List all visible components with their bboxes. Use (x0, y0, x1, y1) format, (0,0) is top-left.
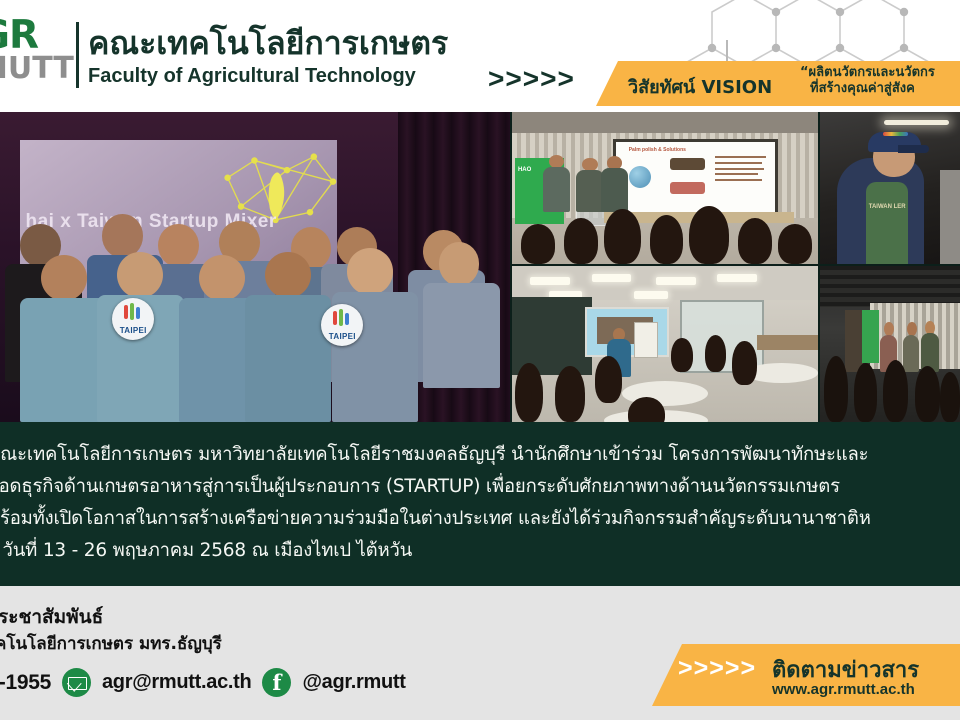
ceiling-lamp (592, 274, 632, 282)
description-line-3: พร้อมทั้งเปิดโอกาสในการสร้างเครือข่ายควา… (0, 504, 871, 533)
poster-root: GR MUTT คณะเทคโนโลยีการเกษตร Faculty of … (0, 0, 960, 720)
audience-head (604, 209, 641, 264)
rmutt-logo[interactable]: GR MUTT (0, 18, 74, 96)
footer-title: ประชาสัมพันธ์ (0, 602, 103, 632)
audience-head (940, 372, 960, 422)
audience-head (915, 366, 940, 422)
person-body (543, 167, 571, 213)
faculty-name-thai: คณะเทคโนโลยีการเกษตร (88, 25, 448, 61)
photo-classroom[interactable] (512, 266, 818, 422)
vision-quote-line-1: “ผลิตนวัตกรและนวัตกร (800, 65, 960, 81)
taipei-badge: TAIPEI (321, 304, 363, 346)
person-body (601, 168, 629, 212)
audience-head (555, 366, 586, 422)
envelope-icon (62, 668, 91, 697)
ceiling-lamp (717, 274, 757, 282)
person-head (41, 255, 87, 302)
photo-industrial-hall[interactable] (820, 266, 960, 422)
photo2-slide: Palm polish & Solutions (613, 139, 778, 215)
description-line-4: ง วันที่ 13 - 26 พฤษภาคม 2568 ณ เมืองไทเ… (0, 536, 412, 565)
ceiling-lamp (656, 277, 696, 285)
photo3-cap-brim (898, 145, 929, 153)
photo3-tshirt: TAIWAN LER (866, 182, 908, 264)
email-address[interactable]: agr@rmutt.ac.th (102, 671, 251, 694)
follow-chevron-group: > > > > > (678, 656, 755, 681)
chevron-right-icon: > (740, 656, 755, 681)
facebook-icon (262, 668, 291, 697)
photo-collage: hai x Taiwan Startup Mixer 025, (0, 112, 960, 422)
photo-man-portrait[interactable]: TAIWAN LER (820, 112, 960, 264)
hex-stem-decoration (726, 40, 728, 64)
chevron-right-icon: > (505, 66, 521, 92)
photo-group-stage[interactable]: hai x Taiwan Startup Mixer 025, (0, 112, 510, 422)
chevron-right-icon: > (694, 656, 709, 681)
chevron-right-icon: > (678, 656, 693, 681)
audience-head (564, 218, 598, 264)
photo3-cap-stripe (883, 132, 908, 136)
person-head (347, 248, 393, 295)
chevron-right-icon: > (540, 66, 556, 92)
logo-rmutt-text: MUTT (0, 54, 74, 84)
phone-number[interactable]: 92-1955 (0, 671, 51, 695)
chevron-right-icon: > (709, 656, 724, 681)
audience-head (738, 218, 772, 264)
ceiling-lamp (634, 291, 668, 299)
person-head (158, 224, 199, 267)
photo5-board (845, 310, 863, 372)
audience-head (824, 356, 848, 422)
taipei-badge-label: TAIPEI (321, 332, 363, 341)
photo2-banner-label: HAO (518, 167, 531, 173)
chevron-right-icon: > (725, 656, 740, 681)
footer-subtitle: เทคโนโลยีการเกษตร มทร.ธัญบุรี (0, 630, 222, 657)
person-head (117, 252, 163, 299)
person-body (245, 295, 332, 422)
footer-contact-row: 92-1955 agr@rmutt.ac.th @agr.rmutt (0, 668, 406, 697)
audience-head (689, 206, 729, 264)
person-head (199, 255, 245, 302)
audience-head (854, 363, 878, 422)
audience-head (778, 224, 812, 264)
photo5-green-banner (862, 310, 879, 363)
person-body (576, 170, 604, 213)
photo2-slide-title: Palm polish & Solutions (629, 147, 686, 153)
vision-quote: “ผลิตนวัตกรและนวัตกร ที่สร้างคุณค่าสู่สั… (800, 65, 960, 97)
person-head (265, 252, 311, 299)
header: GR MUTT คณะเทคโนโลยีการเกษตร Faculty of … (0, 0, 960, 112)
chevron-right-icon: > (523, 66, 539, 92)
taipei-badge: TAIPEI (112, 298, 154, 340)
logo-agr-text: GR (0, 18, 74, 54)
audience-head (595, 356, 623, 403)
vision-quote-line-2: ที่สร้างคุณค่าสู่สังค (800, 81, 960, 97)
photo5-ceiling (820, 266, 960, 307)
audience-head (883, 360, 908, 422)
chevron-right-icon: > (488, 66, 504, 92)
vision-label: วิสัยทัศน์ VISION (628, 72, 772, 101)
header-chevron-group: > > > > > (488, 66, 574, 92)
description-line-2: ยอดธุรกิจด้านเกษตรอาหารสู่การเป็นผู้ประก… (0, 472, 840, 501)
logo-divider (76, 22, 79, 88)
chevron-right-icon: > (557, 66, 573, 92)
taipei-badge-label: TAIPEI (112, 326, 154, 335)
audience-head (650, 215, 684, 264)
globe-icon (629, 166, 651, 188)
faculty-name-english: Faculty of Agricultural Technology (88, 64, 416, 88)
person-head (439, 242, 480, 285)
photo-presentation-room[interactable]: Palm polish & Solutions HAO T T A (512, 112, 818, 264)
audience-head (705, 335, 726, 372)
person-body (423, 283, 500, 388)
ceiling-lamp (530, 277, 570, 285)
facebook-handle[interactable]: @agr.rmutt (302, 671, 405, 694)
follow-url[interactable]: www.agr.rmutt.ac.th (772, 681, 915, 698)
photo3-shirt-text: TAIWAN LER (866, 203, 908, 211)
audience-head (732, 341, 756, 385)
photo4-counter (757, 335, 818, 351)
person-body (20, 298, 107, 422)
description-line-1: คณะเทคโนโลยีการเกษตร มหาวิทยาลัยเทคโนโลย… (0, 440, 868, 469)
audience-head (671, 338, 692, 372)
photo3-ceiling-light (884, 120, 948, 125)
person-body (903, 335, 920, 372)
audience-head (521, 224, 555, 264)
audience-head (515, 363, 543, 422)
